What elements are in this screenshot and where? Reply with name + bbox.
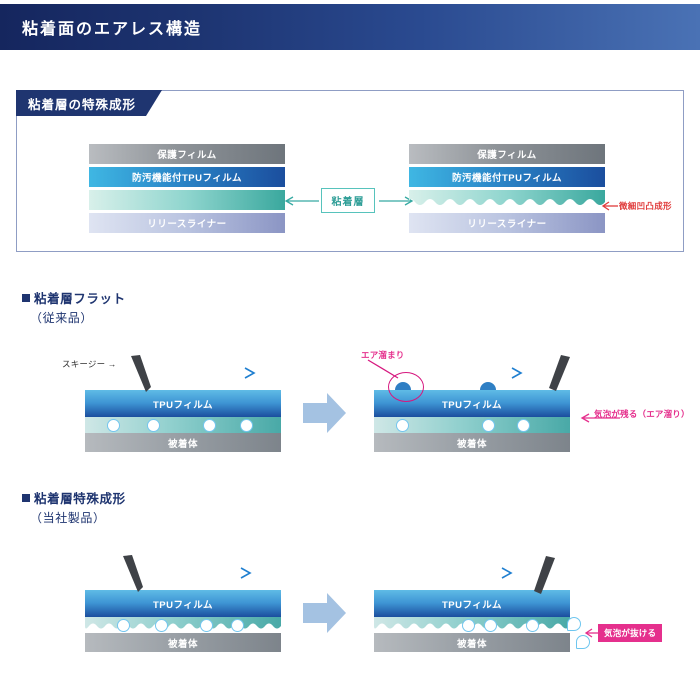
air-bubble-icon (482, 419, 495, 432)
air-bubble-icon (203, 419, 216, 432)
layer-release-liner: リリースライナー (89, 213, 285, 233)
section-subheading-textured: （当社製品） (30, 509, 106, 526)
layer-stack-flat: 保護フィルム 防汚機能付TPUフィルム リリースライナー (89, 144, 285, 236)
squeegee-icon (530, 556, 558, 598)
bullet-square-icon (22, 294, 30, 302)
diagram-flat-before: TPUフィルム 被着体 (85, 390, 281, 450)
air-bubble-icon (200, 619, 213, 632)
layer-adhesive-textured (409, 190, 605, 212)
air-pocket-dome-icon (480, 382, 496, 390)
squeegee-label: スキージー → (62, 358, 117, 370)
adhesive-band-textured (374, 617, 570, 633)
layer-release-liner: リリースライナー (409, 213, 605, 233)
flow-direction-arrow-icon (420, 368, 530, 378)
air-bubble-icon (155, 619, 168, 632)
bullet-square-icon (22, 494, 30, 502)
adhesive-band (374, 417, 570, 433)
substrate-stack: TPUフィルム 被着体 (85, 390, 281, 452)
air-bubble-icon (117, 619, 130, 632)
step-arrow-icon (303, 392, 347, 434)
section-heading-textured: 粘着層特殊成形 (22, 488, 126, 507)
remaining-bubble-callout: 気泡が残る（エア溜り） (594, 408, 690, 420)
squeegee-icon (128, 355, 156, 393)
flow-direction-arrow-icon (157, 568, 257, 578)
air-bubble-icon (484, 619, 497, 632)
adherend-label: 被着体 (374, 633, 570, 652)
air-bubble-icon (107, 419, 120, 432)
flow-direction-arrow-icon (410, 568, 520, 578)
adhesive-layer-callout: 粘着層 (321, 188, 375, 213)
step-arrow-icon (303, 592, 347, 634)
layer-antifouling-tpu-film: 防汚機能付TPUフィルム (409, 167, 605, 187)
air-bubble-icon (396, 419, 409, 432)
layer-stack-textured: 保護フィルム 防汚機能付TPUフィルム リリースライナー (409, 144, 605, 236)
section-subheading-flat: （従来品） (30, 309, 93, 326)
micro-texture-wave-icon (85, 617, 281, 633)
adherend-label: 被着体 (374, 433, 570, 452)
callout-arrow-left-icon (283, 196, 319, 206)
layer-adhesive-flat (89, 190, 285, 210)
adhesive-band (85, 417, 281, 433)
layer-antifouling-tpu-film: 防汚機能付TPUフィルム (89, 167, 285, 187)
section-heading-flat: 粘着層フラット (22, 288, 126, 307)
adhesive-band-textured (85, 617, 281, 633)
micro-texture-arrow-icon (600, 201, 618, 211)
air-bubble-icon (231, 619, 244, 632)
adherend-label: 被着体 (85, 633, 281, 652)
tpu-film-label: TPUフィルム (85, 590, 281, 617)
layer-protective-film: 保護フィルム (409, 144, 605, 164)
air-bubble-icon (240, 419, 253, 432)
page-title: 粘着面のエアレス構造 (22, 15, 202, 39)
escaping-bubble-icon (567, 617, 581, 631)
flow-direction-arrow-icon (165, 368, 260, 378)
micro-texture-annotation: 微細凹凸成形 (619, 200, 672, 212)
air-bubble-icon (462, 619, 475, 632)
substrate-stack: TPUフィルム 被着体 (374, 590, 570, 652)
panel-tab-label: 粘着層の特殊成形 (16, 90, 162, 116)
escape-bubble-callout: 気泡が抜ける (598, 624, 662, 642)
air-bubble-icon (517, 419, 530, 432)
micro-texture-wave-icon (409, 190, 605, 212)
diagram-textured-after: TPUフィルム 被着体 (374, 590, 570, 650)
air-pocket-callout: エア溜まり (361, 349, 405, 361)
squeegee-icon (545, 355, 573, 395)
page-root: 粘着面のエアレス構造 粘着層の特殊成形 保護フィルム 防汚機能付TPUフィルム … (0, 0, 700, 700)
substrate-stack: TPUフィルム 被着体 (85, 590, 281, 652)
squeegee-icon (120, 555, 148, 593)
layer-protective-film: 保護フィルム (89, 144, 285, 164)
diagram-textured-before: TPUフィルム 被着体 (85, 590, 281, 650)
tpu-film-label: TPUフィルム (85, 390, 281, 417)
air-bubble-icon (147, 419, 160, 432)
page-header: 粘着面のエアレス構造 (0, 4, 700, 50)
adherend-label: 被着体 (85, 433, 281, 452)
air-bubble-icon (526, 619, 539, 632)
